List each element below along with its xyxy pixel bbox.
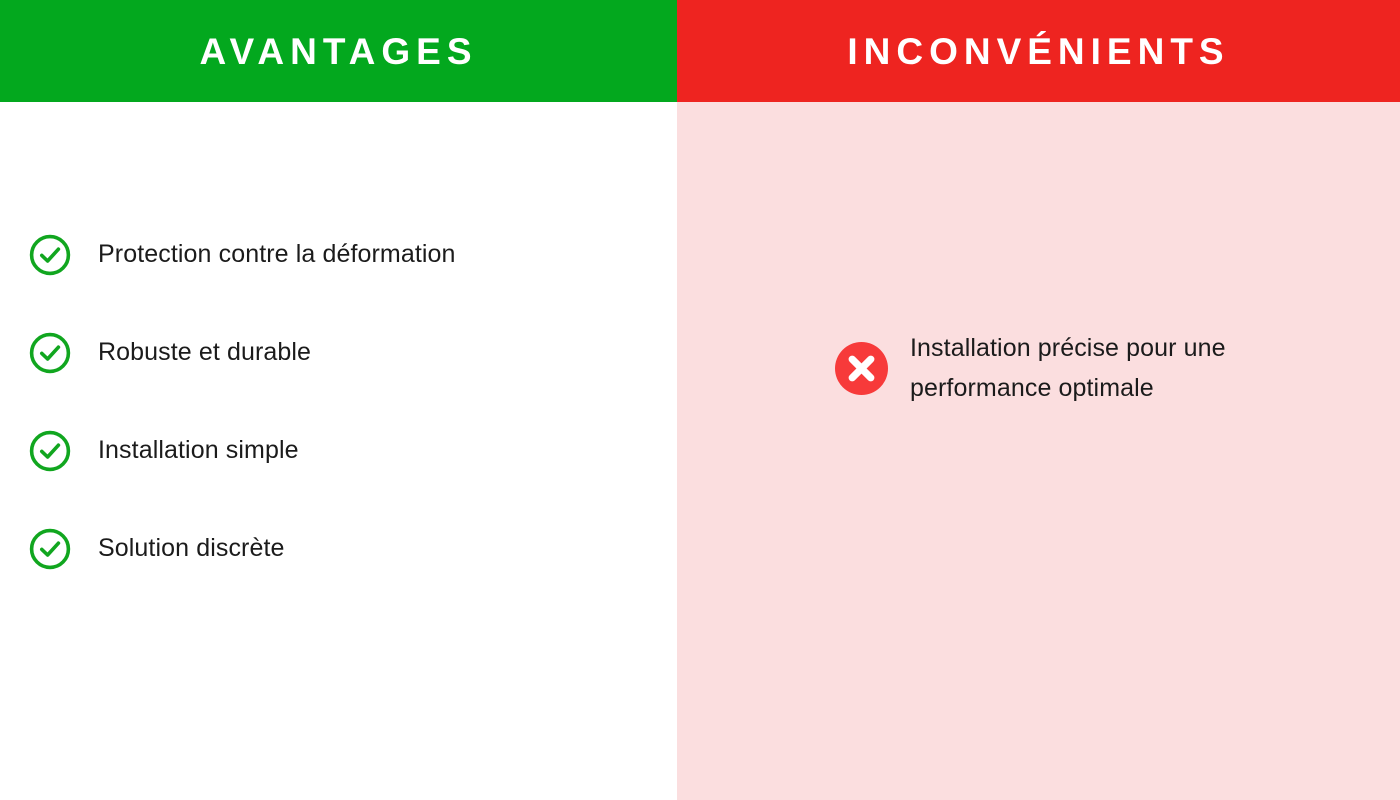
list-item: Solution discrète [0, 500, 677, 598]
advantages-body: Protection contre la déformation Robuste… [0, 102, 677, 800]
advantages-column: AVANTAGES Protection contre la déformati… [0, 0, 677, 800]
advantages-list: Protection contre la déformation Robuste… [0, 206, 677, 598]
list-item-label: Installation précise pour une performanc… [910, 328, 1310, 408]
advantages-header-title: AVANTAGES [199, 33, 477, 70]
check-circle-icon [29, 234, 71, 276]
check-circle-icon [29, 332, 71, 374]
list-item: Robuste et durable [0, 304, 677, 402]
disadvantages-list: Installation précise pour une performanc… [677, 328, 1400, 408]
disadvantages-header: INCONVÉNIENTS [677, 0, 1400, 102]
list-item-label: Protection contre la déformation [98, 239, 456, 270]
check-circle-icon [29, 430, 71, 472]
disadvantages-body: Installation précise pour une performanc… [677, 102, 1400, 800]
cross-circle-icon [835, 342, 888, 395]
list-item-label: Installation simple [98, 435, 299, 466]
list-item: Installation précise pour une performanc… [677, 328, 1400, 408]
disadvantages-header-title: INCONVÉNIENTS [847, 33, 1229, 70]
pros-cons-comparison: AVANTAGES Protection contre la déformati… [0, 0, 1400, 800]
disadvantages-column: INCONVÉNIENTS Installation précise pour … [677, 0, 1400, 800]
advantages-header: AVANTAGES [0, 0, 677, 102]
list-item-label: Solution discrète [98, 533, 285, 564]
check-circle-icon [29, 528, 71, 570]
list-item-label: Robuste et durable [98, 337, 311, 368]
list-item: Installation simple [0, 402, 677, 500]
list-item: Protection contre la déformation [0, 206, 677, 304]
